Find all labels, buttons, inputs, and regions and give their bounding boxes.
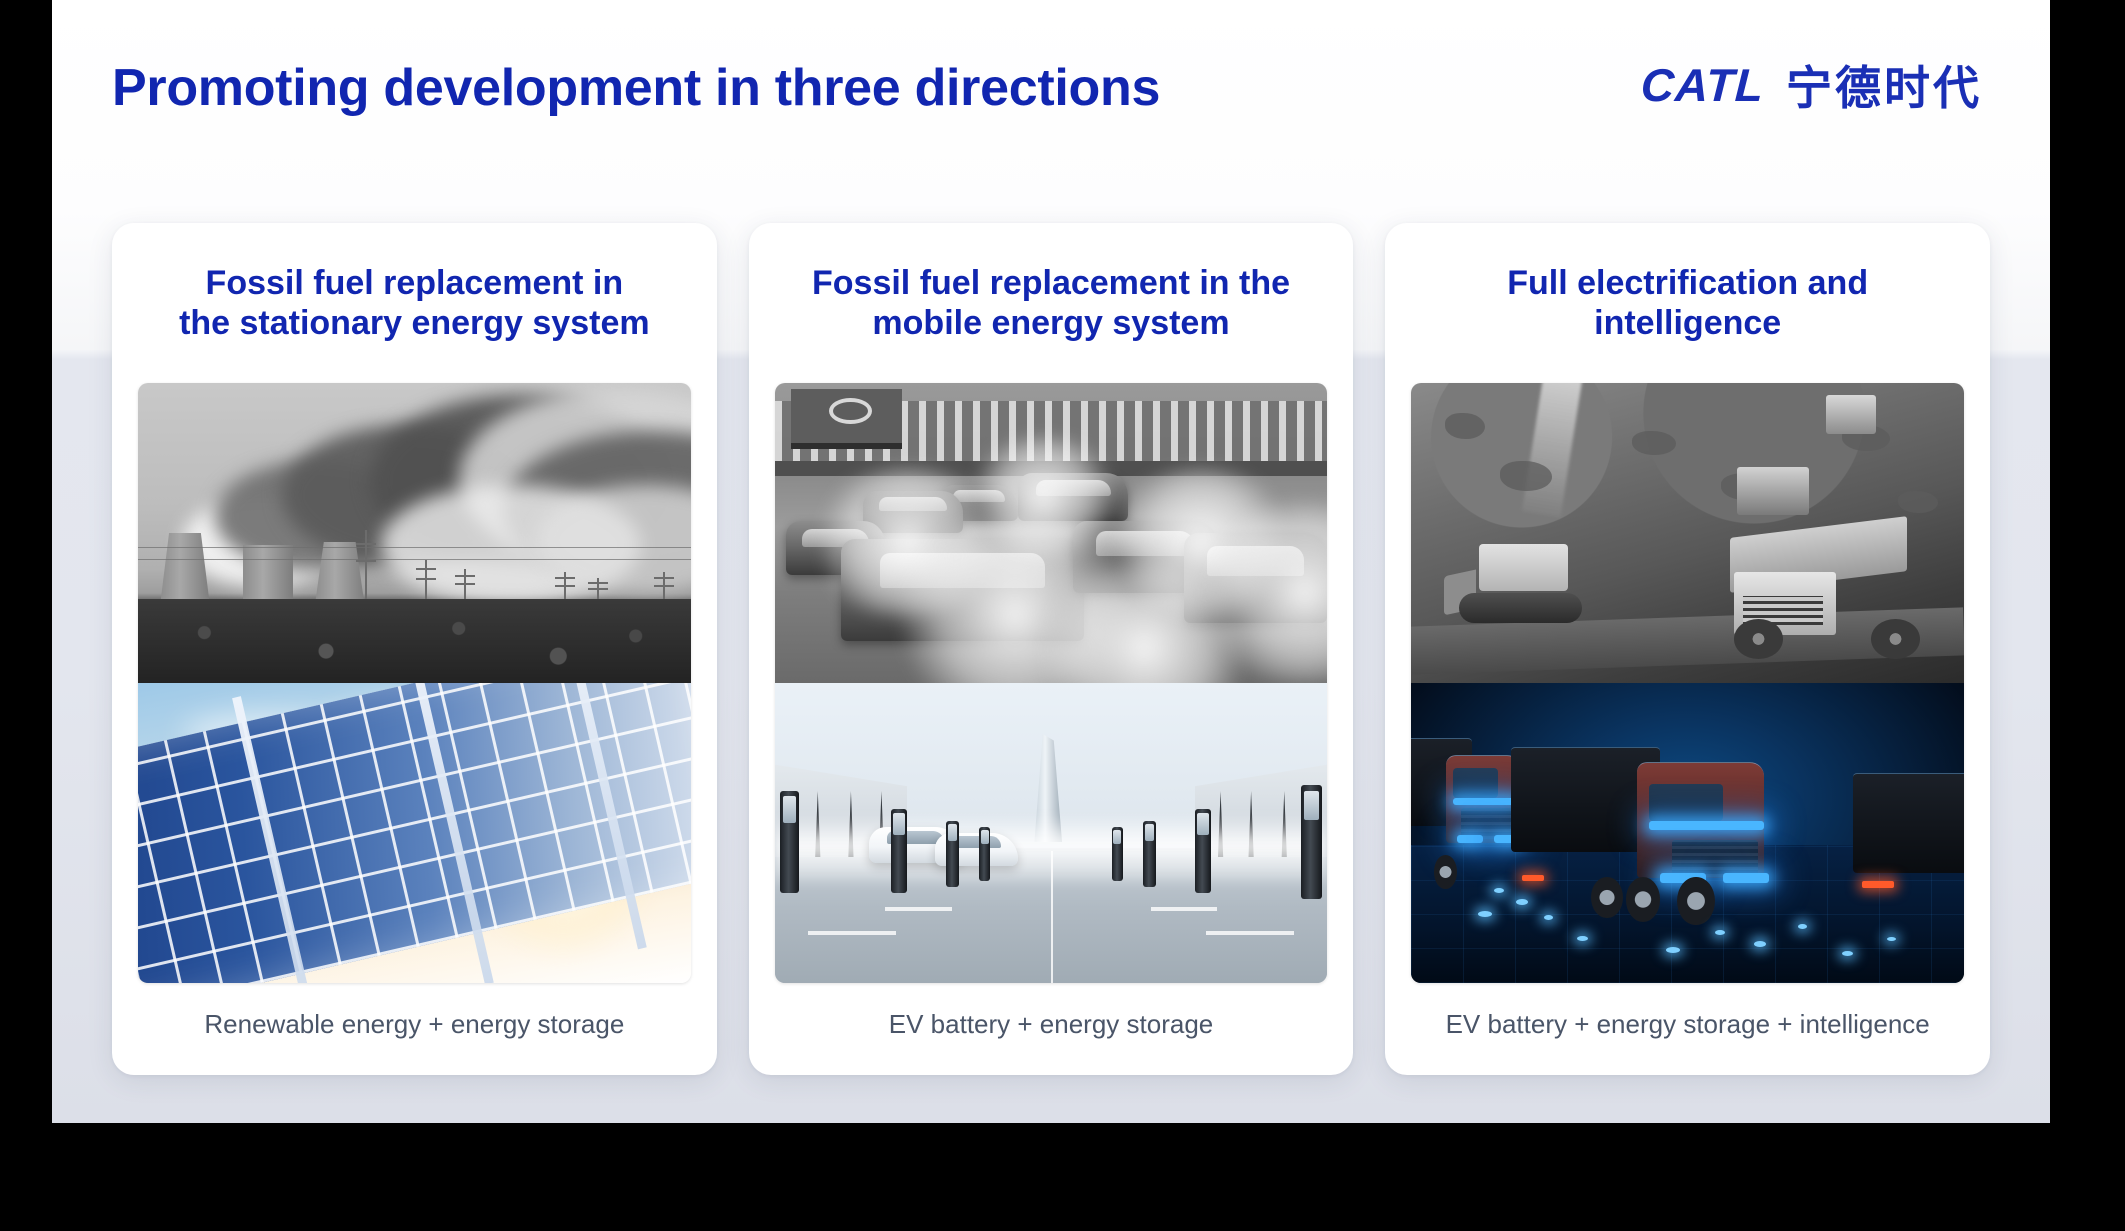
- card-media-stack: [775, 383, 1328, 983]
- slide-canvas: Promoting development in three direction…: [52, 0, 2050, 1123]
- card-title-line1: Fossil fuel replacement in: [206, 264, 624, 302]
- ev-charging-station-photo: [775, 683, 1328, 983]
- catl-chinese-name: 宁德时代: [1786, 52, 1982, 118]
- catl-wordmark-icon: CATL: [1639, 58, 1765, 112]
- card-title: Fossil fuel replacement in the mobile en…: [808, 263, 1294, 355]
- page-title: Promoting development in three direction…: [112, 58, 1160, 118]
- card-caption: EV battery + energy storage + intelligen…: [1446, 1009, 1930, 1040]
- direction-card-row: Fossil fuel replacement in the stationar…: [112, 223, 1990, 1075]
- card-title-line2: the stationary energy system: [179, 304, 650, 342]
- card-media-stack: [1411, 383, 1964, 983]
- card-title: Fossil fuel replacement in the stationar…: [175, 263, 654, 355]
- coal-power-plant-photo: [138, 383, 691, 683]
- card-caption: Renewable energy + energy storage: [204, 1009, 624, 1040]
- card-title-line1: Full electrification and: [1507, 264, 1868, 302]
- direction-card-stationary[interactable]: Fossil fuel replacement in the stationar…: [112, 223, 717, 1075]
- barren-field: [138, 599, 691, 683]
- card-title-line2: mobile energy system: [872, 304, 1229, 342]
- card-title-line2: intelligence: [1594, 304, 1781, 342]
- card-media-stack: [138, 383, 691, 983]
- direction-card-mobile[interactable]: Fossil fuel replacement in the mobile en…: [749, 223, 1354, 1075]
- direction-card-electrification[interactable]: Full electrification and intelligence: [1385, 223, 1990, 1075]
- card-title-line1: Fossil fuel replacement in the: [812, 264, 1290, 302]
- electric-trucks-photo: [1411, 683, 1964, 983]
- card-caption: EV battery + energy storage: [889, 1009, 1213, 1040]
- card-title: Full electrification and intelligence: [1503, 263, 1872, 355]
- catl-logo: CATL 宁德时代: [1641, 52, 1982, 118]
- open-pit-mining-photo: [1411, 383, 1964, 683]
- traffic-exhaust-photo: [775, 383, 1328, 683]
- solar-panel-array-photo: [138, 683, 691, 983]
- slide-header: Promoting development in three direction…: [52, 0, 2050, 160]
